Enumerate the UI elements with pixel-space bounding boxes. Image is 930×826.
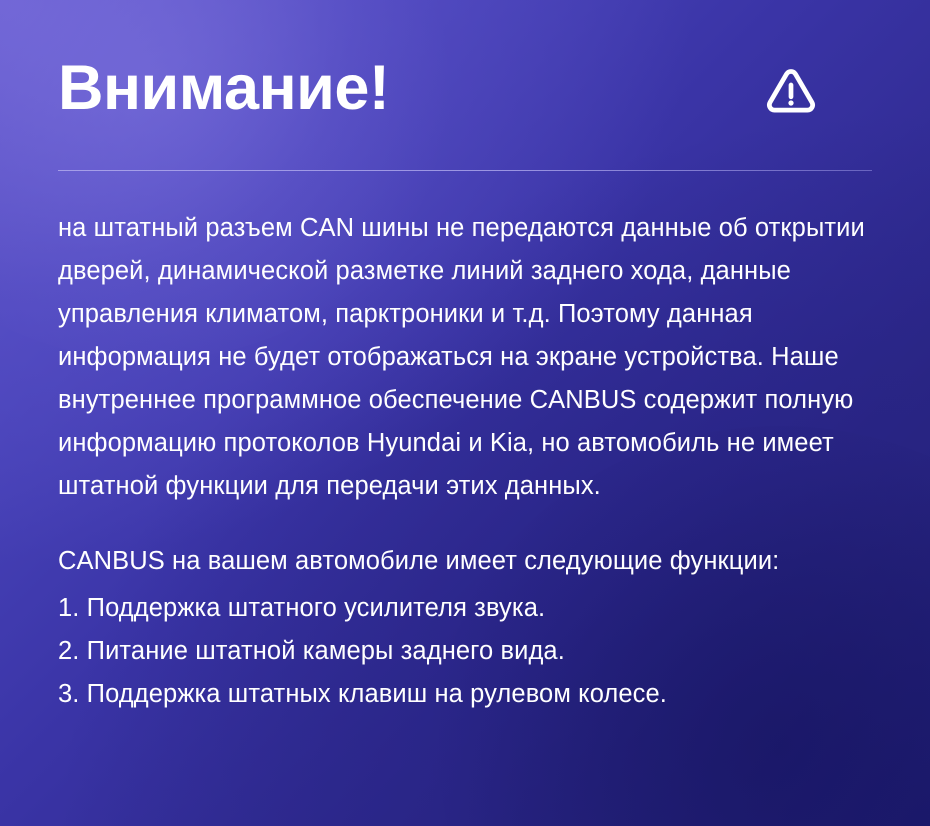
banner-content: Внимание! на штатный разъем CAN шины не … [0, 0, 930, 716]
list-item: 1. Поддержка штатного усилителя звука. [58, 587, 872, 630]
warning-paragraph: на штатный разъем CAN шины не передаются… [58, 207, 872, 508]
functions-block: CANBUS на вашем автомобиле имеет следующ… [58, 540, 872, 716]
warning-banner: Внимание! на штатный разъем CAN шины не … [0, 0, 930, 826]
page-title: Внимание! [58, 57, 389, 120]
warning-triangle-icon [762, 61, 820, 119]
functions-intro: CANBUS на вашем автомобиле имеет следующ… [58, 540, 872, 583]
list-item: 3. Поддержка штатных клавиш на рулевом к… [58, 673, 872, 716]
functions-list: 1. Поддержка штатного усилителя звука. 2… [58, 587, 872, 716]
banner-header: Внимание! [58, 0, 872, 170]
list-item: 2. Питание штатной камеры заднего вида. [58, 630, 872, 673]
banner-body: на штатный разъем CAN шины не передаются… [58, 171, 872, 716]
